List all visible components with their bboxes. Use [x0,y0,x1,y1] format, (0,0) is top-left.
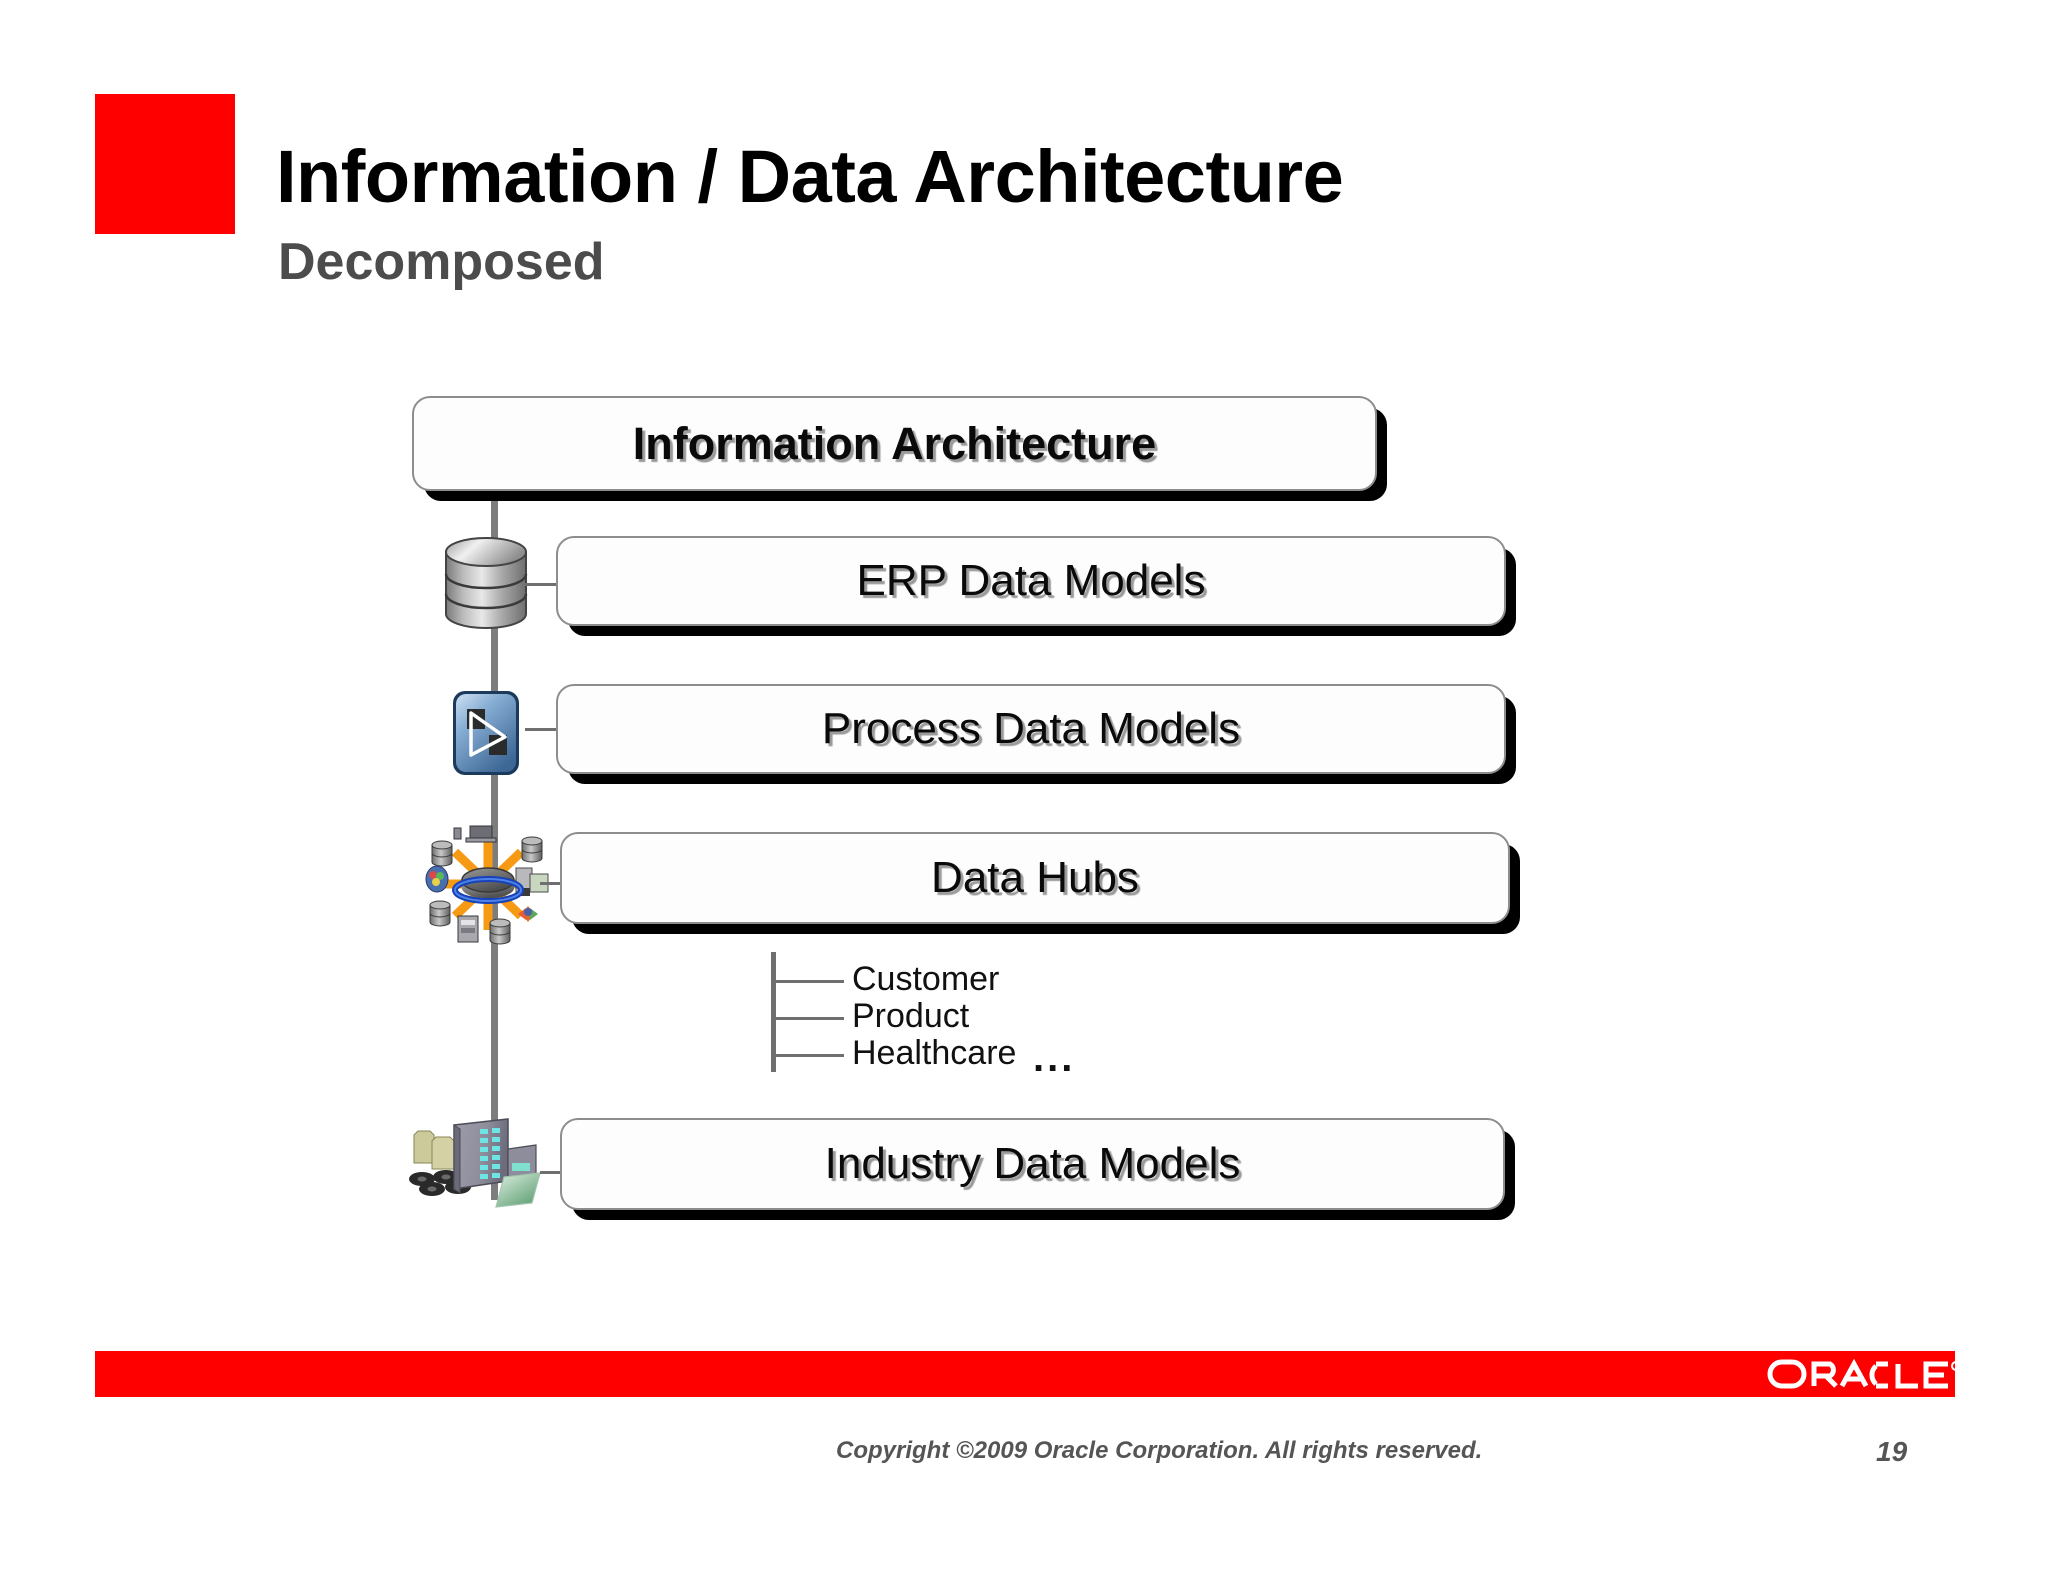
node-label: Process Data Models [822,704,1240,754]
footer-page-number: 19 [1876,1436,1907,1468]
footer-copyright: Copyright ©2009 Oracle Corporation. All … [836,1437,1482,1465]
sublist-branch [776,1054,844,1057]
sublist-branch [776,980,844,983]
node-process-data-models[interactable]: Process Data Models [556,684,1506,774]
node-erp-data-models[interactable]: ERP Data Models [556,536,1506,626]
connector-stub-industry [540,1171,562,1174]
hub-spoke-icon [418,822,558,950]
connector-stub-hubs [540,882,562,885]
node-label: Industry Data Models [825,1139,1241,1189]
process-flow-icon [445,683,531,783]
node-information-architecture[interactable]: Information Architecture [412,396,1377,491]
sublist-item-customer: Customer [852,960,999,999]
connector-stub-erp [525,583,557,586]
database-cylinder-icon [440,534,532,634]
sublist-more-ellipsis: ... [1033,1036,1075,1081]
node-label: Information Architecture [633,418,1156,470]
architecture-diagram: Information Architecture [0,0,2048,1582]
node-industry-data-models[interactable]: Industry Data Models [560,1118,1505,1210]
node-label: ERP Data Models [857,556,1206,606]
node-data-hubs[interactable]: Data Hubs [560,832,1510,924]
sublist-item-healthcare: Healthcare [852,1034,1016,1073]
connector-stub-process [525,728,557,731]
slide-canvas: Information / Data Architecture Decompos… [0,0,2048,1582]
sublist-branch [776,1017,844,1020]
oracle-logo [1766,1354,1966,1394]
footer-brand-bar [95,1351,1955,1397]
node-label: Data Hubs [931,853,1139,903]
industry-building-icon [408,1107,558,1227]
sublist-item-product: Product [852,997,969,1036]
